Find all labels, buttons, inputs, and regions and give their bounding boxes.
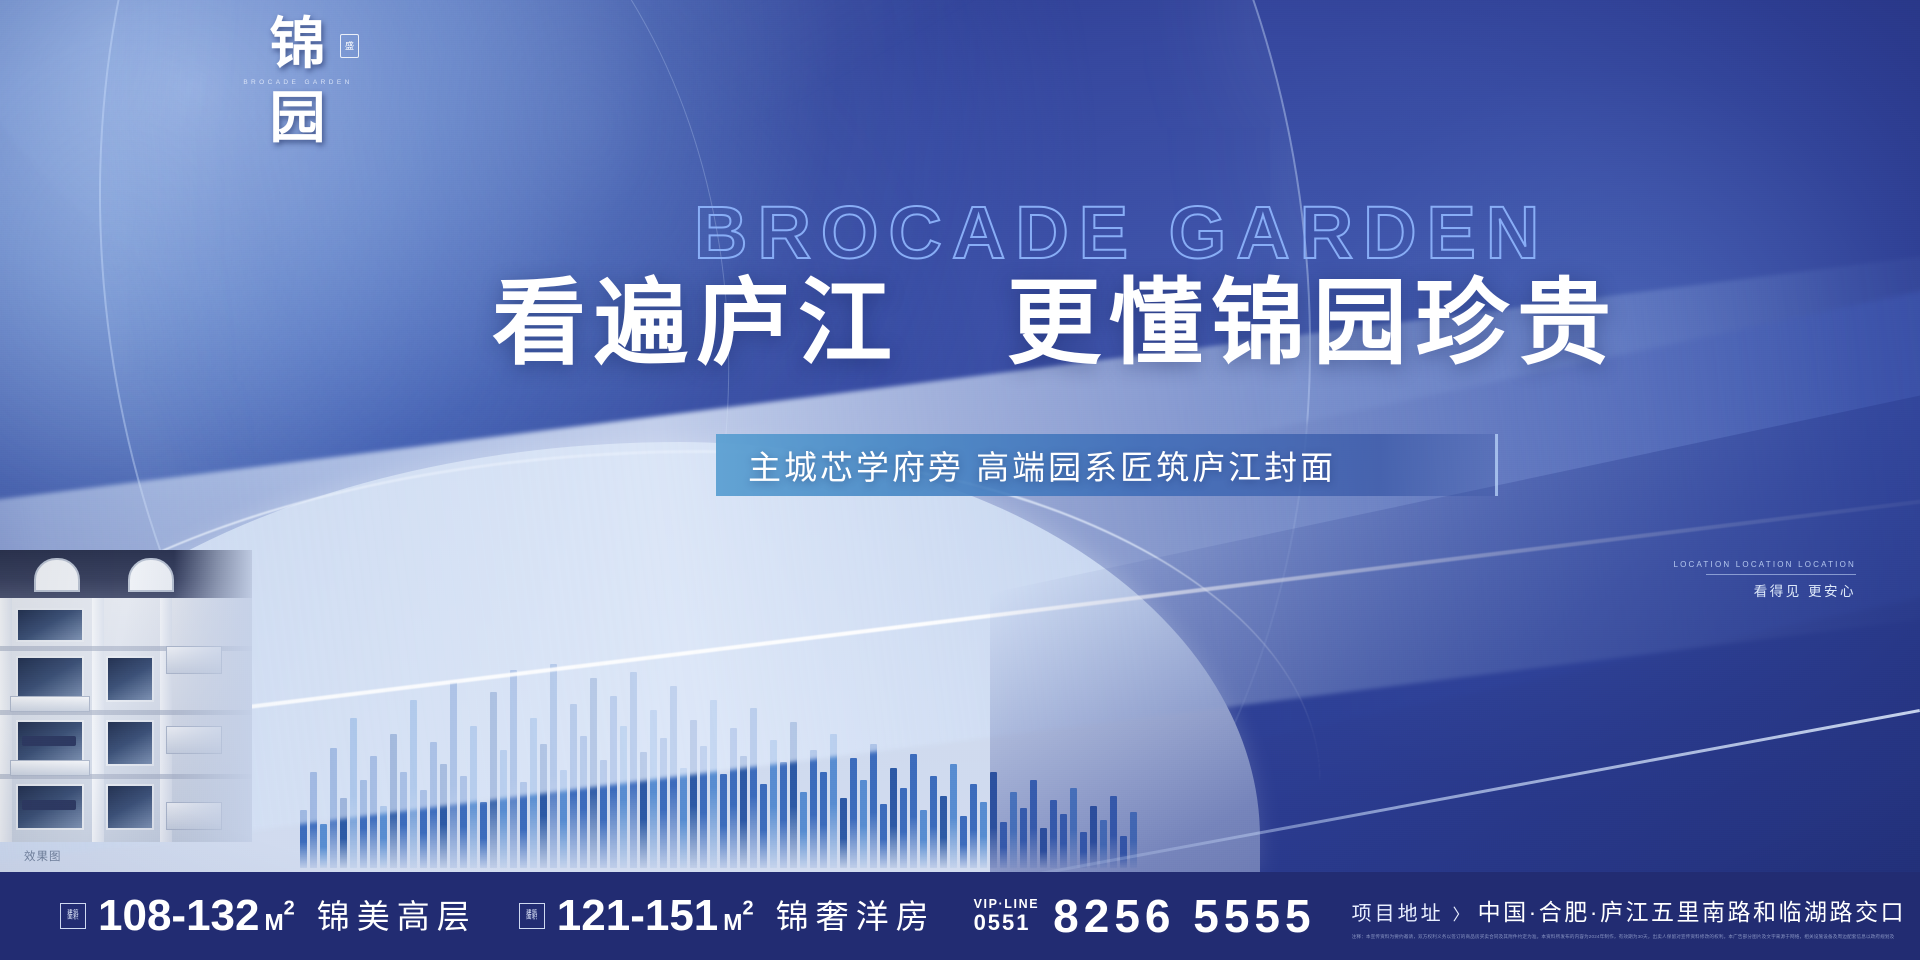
bottom-info-bar: 建筑 面积 108-132M2 锦美高层 建筑 面积 121-151M2 锦奢洋… [0,872,1920,960]
unit-size-1-value: 108-132 [98,891,259,940]
headline-part-right: 更懂锦园珍贵 [1007,272,1619,376]
address-block: 项目地址 〉 中国·合肥·庐江五里南路和临湖路交口 注释：本宣传资料为要约邀请，… [1352,893,1894,940]
headline-part-left: 看遍庐江 [492,272,900,376]
unit-size-2-value: 121-151 [557,891,718,940]
rendering-disclaimer: 效果图 [24,848,62,864]
logo-char-bottom: 园 [243,90,353,148]
subtitle-text: 主城芯学府旁 高端园系匠筑庐江封面 [716,441,1336,489]
english-title: BROCADE GARDEN [694,196,1884,270]
unit-area-badge: 建筑 面积 [519,903,545,929]
chevron-right-icon: 〉 [1453,901,1469,925]
logo-seal-icon: 盛 [340,34,359,58]
brand-logo[interactable]: 锦 盛 BROCADE GARDEN 园 [243,16,353,161]
unit-size-1-exponent: 2 [284,897,295,919]
location-tagline-block: LOCATION LOCATION LOCATION 看得见 更安心 [1673,560,1856,600]
address-label: 项目地址 [1352,897,1444,926]
unit-size-1: 108-132M2 [98,894,295,938]
unit-size-2-exponent: 2 [742,897,753,919]
unit-size-1-unit: M [264,909,283,935]
unit-size-2: 121-151M2 [557,894,754,938]
page-title: 看遍庐江 更懂锦园珍贵 [492,272,1892,377]
vip-line-block: VIP·LINE 0551 [974,898,1040,934]
badge-line-2: 面积 [67,916,78,922]
location-tagline-chinese: 看得见 更安心 [1673,580,1856,600]
vip-area-code: 0551 [974,911,1040,934]
logo-pinyin: BROCADE GARDEN [243,79,353,86]
unit-name-2: 锦奢洋房 [776,900,936,933]
location-tagline-english: LOCATION LOCATION LOCATION [1673,560,1856,569]
unit-name-1: 锦美高层 [317,900,477,933]
phone-number[interactable]: 8256 5555 [1053,893,1315,939]
legal-fineprint: 注释：本宣传资料为要约邀请，双方权利义务以签订的商品房买卖合同及其附件约定为准。… [1352,934,1894,940]
subtitle-banner: 主城芯学府旁 高端园系匠筑庐江封面 [716,434,1496,496]
subtitle-banner-cap [1495,434,1498,496]
logo-char-top: 锦 [243,16,353,74]
poster-canvas: 锦 盛 BROCADE GARDEN 园 BROCADE GARDEN 看遍庐江… [0,0,1920,960]
badge-line-2: 面积 [526,916,537,922]
location-divider [1706,574,1856,575]
unit-size-2-unit: M [723,909,742,935]
unit-area-badge: 建筑 面积 [60,903,86,929]
address-value: 中国·合肥·庐江五里南路和临湖路交口 [1478,893,1906,927]
